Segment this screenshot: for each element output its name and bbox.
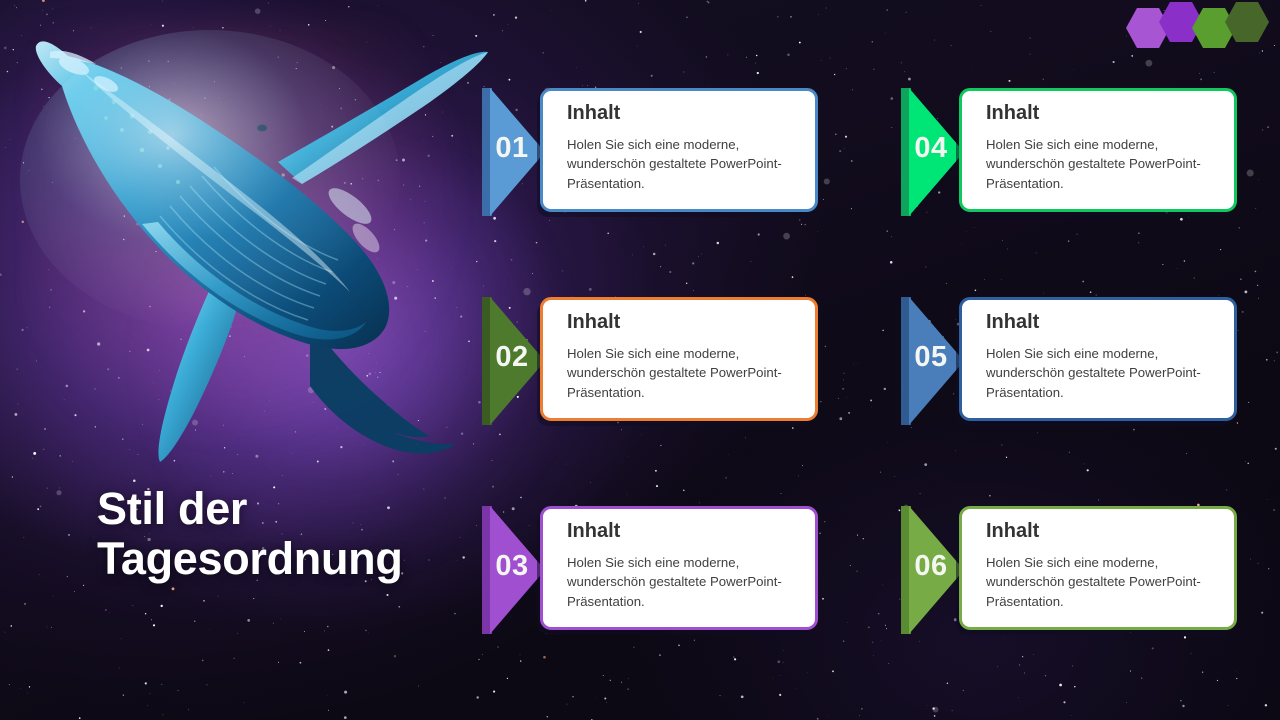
agenda-card-06[interactable]: 06 Inhalt Holen Sie sich eine moderne, w… — [901, 506, 1249, 634]
agenda-card-03[interactable]: 03 Inhalt Holen Sie sich eine moderne, w… — [482, 506, 830, 634]
arrow-marker-03: 03 — [482, 506, 545, 634]
card-number-04: 04 — [909, 132, 953, 165]
card-body-06: Holen Sie sich eine moderne, wunderschön… — [986, 553, 1224, 611]
slide-canvas: Stil der Tagesordnung 01 Inhalt Holen Si… — [0, 0, 1280, 720]
card-heading-04: Inhalt — [986, 102, 1039, 125]
card-panel-06[interactable]: Inhalt Holen Sie sich eine moderne, wund… — [959, 506, 1237, 630]
agenda-card-04[interactable]: 04 Inhalt Holen Sie sich eine moderne, w… — [901, 88, 1249, 216]
arrow-marker-04: 04 — [901, 88, 964, 216]
arrow-marker-05: 05 — [901, 297, 964, 425]
agenda-card-02[interactable]: 02 Inhalt Holen Sie sich eine moderne, w… — [482, 297, 830, 425]
card-number-05: 05 — [909, 341, 953, 374]
card-number-01: 01 — [490, 132, 534, 165]
hexagon-logo — [1126, 2, 1274, 48]
card-panel-02[interactable]: Inhalt Holen Sie sich eine moderne, wund… — [540, 297, 818, 421]
agenda-card-01[interactable]: 01 Inhalt Holen Sie sich eine moderne, w… — [482, 88, 830, 216]
card-heading-02: Inhalt — [567, 311, 620, 334]
card-body-04: Holen Sie sich eine moderne, wunderschön… — [986, 135, 1224, 193]
card-number-02: 02 — [490, 341, 534, 374]
card-heading-03: Inhalt — [567, 520, 620, 543]
card-body-02: Holen Sie sich eine moderne, wunderschön… — [567, 344, 805, 402]
card-panel-03[interactable]: Inhalt Holen Sie sich eine moderne, wund… — [540, 506, 818, 630]
card-panel-04[interactable]: Inhalt Holen Sie sich eine moderne, wund… — [959, 88, 1237, 212]
card-heading-01: Inhalt — [567, 102, 620, 125]
whale-image — [10, 10, 530, 480]
arrow-marker-02: 02 — [482, 297, 545, 425]
card-body-03: Holen Sie sich eine moderne, wunderschön… — [567, 553, 805, 611]
whale-illustration — [10, 10, 530, 480]
card-number-03: 03 — [490, 550, 534, 583]
card-body-05: Holen Sie sich eine moderne, wunderschön… — [986, 344, 1224, 402]
agenda-card-05[interactable]: 05 Inhalt Holen Sie sich eine moderne, w… — [901, 297, 1249, 425]
card-panel-01[interactable]: Inhalt Holen Sie sich eine moderne, wund… — [540, 88, 818, 212]
card-heading-05: Inhalt — [986, 311, 1039, 334]
page-title: Stil der Tagesordnung — [97, 484, 477, 583]
title-line-2: Tagesordnung — [97, 534, 477, 584]
title-line-1: Stil der — [97, 484, 477, 534]
arrow-marker-06: 06 — [901, 506, 964, 634]
card-body-01: Holen Sie sich eine moderne, wunderschön… — [567, 135, 805, 193]
card-number-06: 06 — [909, 550, 953, 583]
card-heading-06: Inhalt — [986, 520, 1039, 543]
arrow-marker-01: 01 — [482, 88, 545, 216]
card-panel-05[interactable]: Inhalt Holen Sie sich eine moderne, wund… — [959, 297, 1237, 421]
whale-rimlight — [20, 30, 400, 330]
